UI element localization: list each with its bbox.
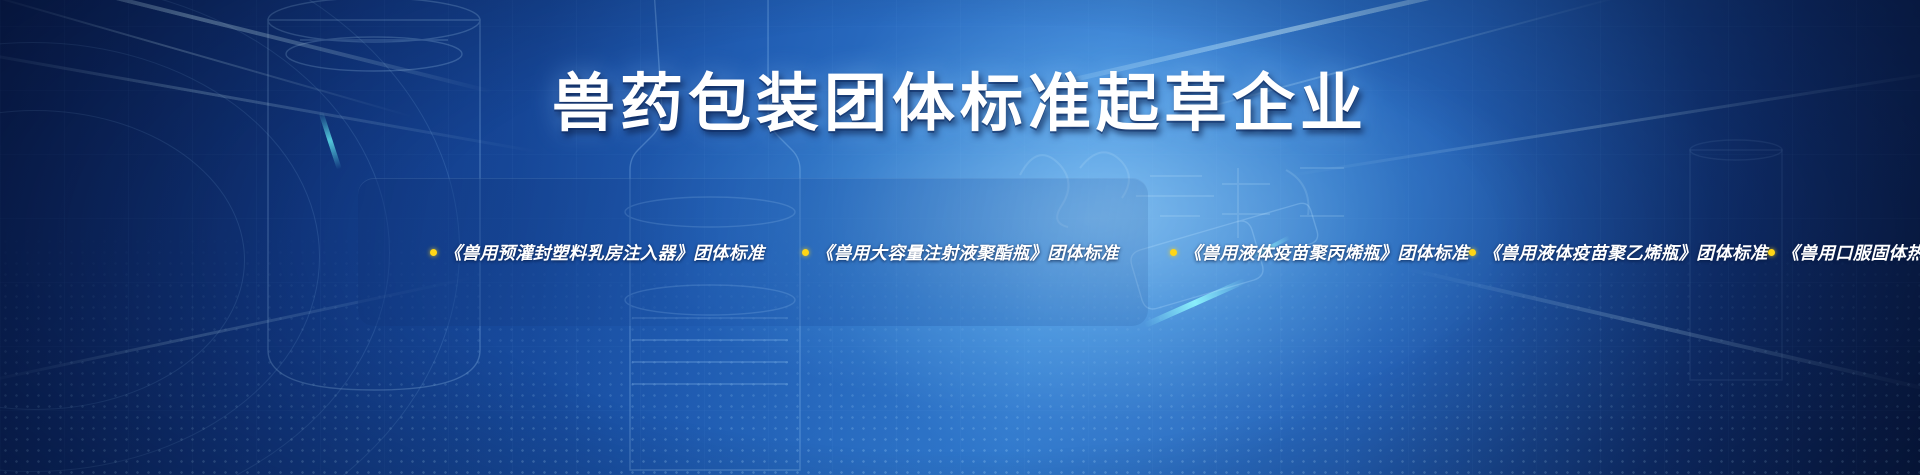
yellow-dot-icon: [1469, 249, 1476, 256]
yellow-dot-icon: [1170, 249, 1177, 256]
list-item-label: 《兽用液体疫苗聚丙烯瓶》团体标准: [1184, 240, 1469, 265]
list-item: 《兽用液体疫苗聚乙烯瓶》团体标准: [1469, 230, 1768, 274]
list-item: 《兽用液体疫苗聚丙烯瓶》团体标准: [1170, 230, 1469, 274]
yellow-dot-icon: [1768, 249, 1775, 256]
promo-banner: 兽药包装团体标准起草企业 《兽用预灌封塑料乳房注入器》团体标准 《兽用大容量注射…: [0, 0, 1920, 475]
list-item: 《兽用口服固体热封垫片塑料瓶》团体标准: [1768, 230, 1920, 274]
title-container: 兽药包装团体标准起草企业: [0, 72, 1920, 135]
list-item-label: 《兽用大容量注射液聚酯瓶》团体标准: [816, 240, 1119, 265]
list-item: 《兽用预灌封塑料乳房注入器》团体标准: [430, 230, 802, 274]
list-item-label: 《兽用液体疫苗聚乙烯瓶》团体标准: [1483, 240, 1768, 265]
list-item-label: 《兽用预灌封塑料乳房注入器》团体标准: [444, 240, 764, 265]
list-item-label: 《兽用口服固体热封垫片塑料瓶》团体标准: [1782, 240, 1920, 265]
banner-title: 兽药包装团体标准起草企业: [552, 72, 1368, 135]
list-item: 《兽用大容量注射液聚酯瓶》团体标准: [802, 230, 1170, 274]
yellow-dot-icon: [802, 249, 809, 256]
yellow-dot-icon: [430, 249, 437, 256]
standards-list: 《兽用预灌封塑料乳房注入器》团体标准 《兽用大容量注射液聚酯瓶》团体标准 《兽用…: [430, 186, 1170, 318]
